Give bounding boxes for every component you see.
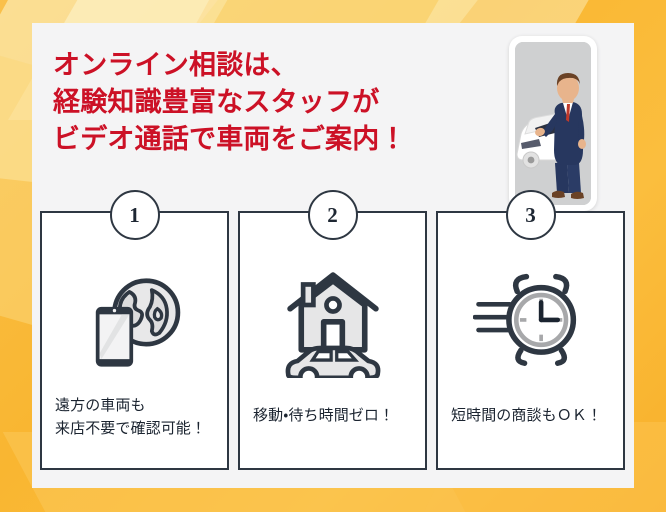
promo-banner: オンライン相談は、 経験知識豊富なスタッフが ビデオ通話で車両をご案内！ — [0, 0, 666, 512]
card-number-badge: 2 — [308, 190, 358, 240]
card-caption: 短時間の商談もＯＫ！ — [451, 405, 615, 428]
headline-line-1: オンライン相談は、 — [53, 47, 407, 84]
house-car-icon — [240, 249, 425, 389]
card-number-badge: 1 — [110, 190, 160, 240]
headline: オンライン相談は、 経験知識豊富なスタッフが ビデオ通話で車両をご案内！ — [53, 47, 407, 158]
content-panel: オンライン相談は、 経験知識豊富なスタッフが ビデオ通話で車両をご案内！ — [32, 23, 634, 488]
card-caption: 遠方の車両も 来店不要で確認可能！ — [55, 395, 219, 441]
feature-cards: 1 遠方の車両も 来店不要で確認可能！ — [40, 211, 626, 470]
smartphone-mockup — [509, 36, 597, 211]
card-caption: 移動・待ち時間ゼロ！ — [253, 405, 417, 428]
card-caption-line-2: 来店不要で確認可能！ — [55, 418, 219, 441]
feature-card-1[interactable]: 1 遠方の車両も 来店不要で確認可能！ — [40, 211, 229, 470]
card-caption-line-1: 遠方の車両も — [55, 395, 219, 418]
globe-smartphone-icon — [42, 249, 227, 389]
staff-video-illustration — [515, 42, 591, 205]
feature-card-3[interactable]: 3 — [436, 211, 625, 470]
card-number-badge: 3 — [506, 190, 556, 240]
card-caption-line-1: 短時間の商談もＯＫ！ — [451, 405, 615, 428]
feature-card-2[interactable]: 2 — [238, 211, 427, 470]
house-icon — [290, 275, 376, 350]
card-caption-line-1: 移動・待ち時間ゼロ！ — [253, 405, 417, 428]
headline-line-2: 経験知識豊富なスタッフが — [53, 84, 407, 121]
headline-line-3: ビデオ通話で車両をご案内！ — [53, 121, 407, 158]
phone-screen — [515, 42, 591, 205]
alarm-clock-speed-icon — [438, 249, 623, 389]
